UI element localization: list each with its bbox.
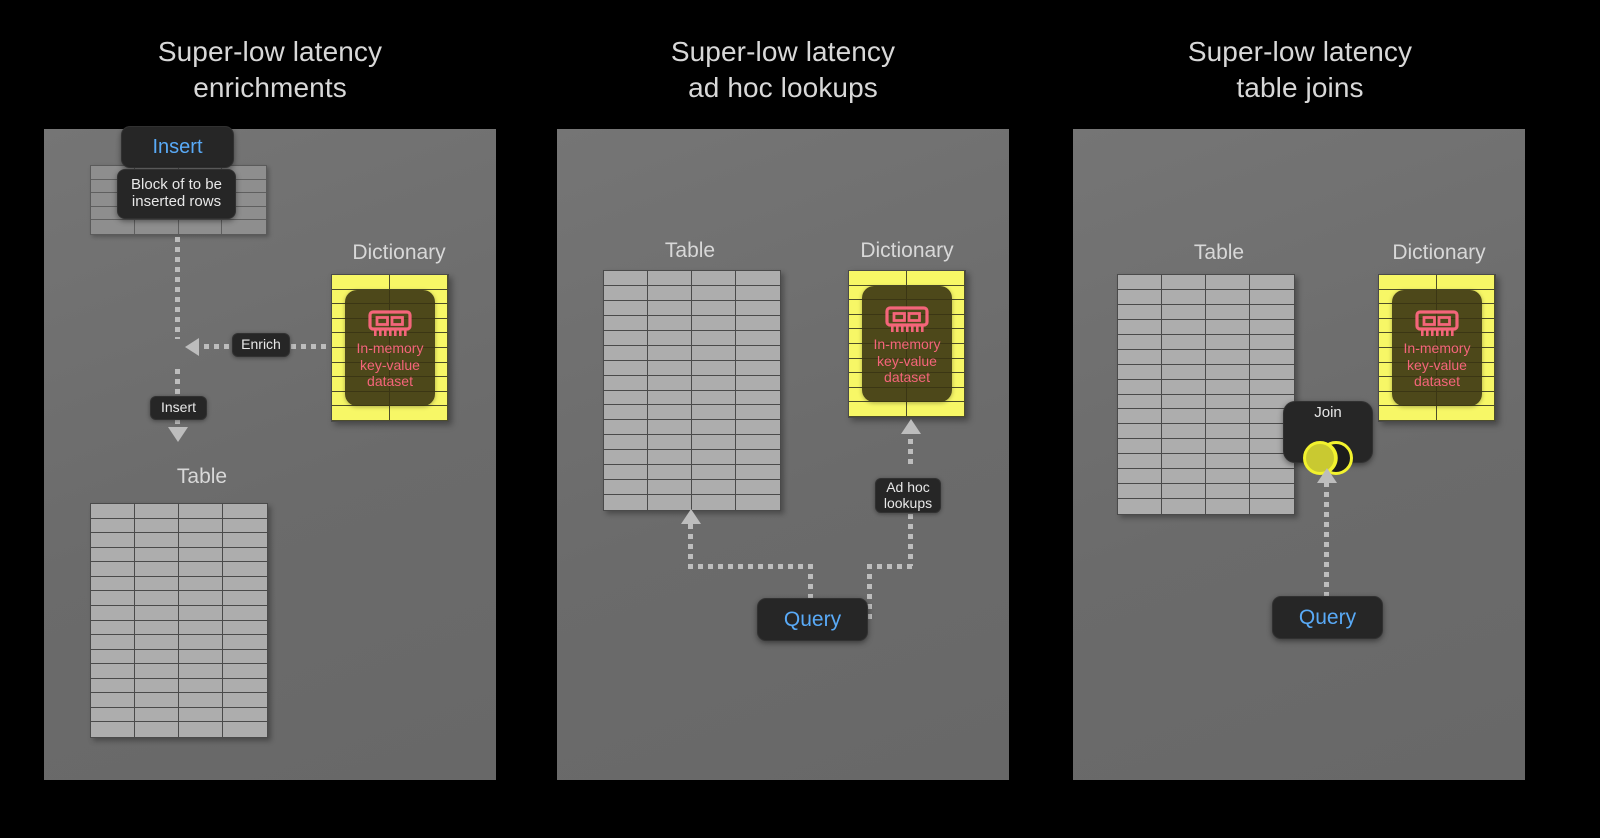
table-caption-1: Table <box>142 465 262 489</box>
grid-cell <box>648 495 692 510</box>
grid-cell <box>179 722 223 737</box>
grid-cell <box>736 391 780 406</box>
grid-cell <box>648 331 692 346</box>
grid-cell <box>1118 305 1162 320</box>
grid-cell <box>1206 469 1250 484</box>
panel-1-title: Super-low latency enrichments <box>60 34 480 106</box>
grid-cell <box>179 504 223 519</box>
lookup-arrowhead <box>901 419 921 434</box>
table-grid-1 <box>90 503 268 738</box>
grid-cell <box>91 635 135 650</box>
grid-cell <box>849 271 907 286</box>
grid-cell <box>604 450 648 465</box>
grid-cell <box>648 361 692 376</box>
grid-cell <box>91 504 135 519</box>
grid-cell <box>179 693 223 708</box>
grid-cell <box>135 519 179 534</box>
grid-cell <box>692 361 736 376</box>
grid-cell <box>1206 365 1250 380</box>
grid-cell <box>135 562 179 577</box>
grid-cell <box>223 577 267 592</box>
grid-cell <box>390 275 448 290</box>
grid-cell <box>223 533 267 548</box>
grid-cell <box>849 402 907 417</box>
grid-cell <box>1250 305 1294 320</box>
grid-cell <box>223 548 267 563</box>
grid-cell <box>222 220 266 234</box>
grid-cell <box>907 402 965 417</box>
grid-cell <box>648 450 692 465</box>
panel-3-title: Super-low latency table joins <box>1090 34 1510 106</box>
grid-cell <box>1162 305 1206 320</box>
grid-cell <box>135 679 179 694</box>
grid-cell <box>648 465 692 480</box>
enrich-chip[interactable]: Enrich <box>232 333 290 357</box>
grid-cell <box>648 271 692 286</box>
query-chip-3[interactable]: Query <box>1272 596 1383 639</box>
grid-cell <box>135 650 179 665</box>
grid-cell <box>1162 409 1206 424</box>
enrich-arrowhead <box>185 338 199 356</box>
grid-cell <box>1206 305 1250 320</box>
grid-cell <box>1118 484 1162 499</box>
grid-cell <box>1118 454 1162 469</box>
grid-cell <box>604 376 648 391</box>
grid-cell <box>179 220 223 234</box>
grid-cell <box>736 480 780 495</box>
grid-cell <box>135 504 179 519</box>
grid-cell <box>692 480 736 495</box>
grid-cell <box>692 331 736 346</box>
panel-2-title: Super-low latency ad hoc lookups <box>573 34 993 106</box>
insert-chip-top[interactable]: Insert <box>121 126 234 168</box>
insert-flow-connector <box>175 237 180 339</box>
grid-cell <box>692 450 736 465</box>
grid-cell <box>135 577 179 592</box>
grid-cell <box>692 286 736 301</box>
grid-cell <box>135 591 179 606</box>
grid-cell <box>1250 365 1294 380</box>
grid-cell <box>1206 335 1250 350</box>
grid-cell <box>179 621 223 636</box>
grid-cell <box>736 495 780 510</box>
grid-cell <box>1162 424 1206 439</box>
grid-cell <box>1206 395 1250 410</box>
grid-cell <box>1118 365 1162 380</box>
ram-module-icon <box>885 306 929 336</box>
grid-cell <box>135 533 179 548</box>
dictionary-caption-3: Dictionary <box>1359 241 1519 265</box>
grid-cell <box>736 271 780 286</box>
grid-cell <box>1437 406 1495 421</box>
grid-cell <box>91 664 135 679</box>
ram-module-icon <box>1415 310 1459 340</box>
table-grid-3 <box>1117 274 1295 515</box>
grid-cell <box>604 480 648 495</box>
grid-cell <box>1118 469 1162 484</box>
grid-cell <box>1379 275 1437 290</box>
grid-cell <box>1250 275 1294 290</box>
query-branch-right-horizontal <box>867 564 912 569</box>
grid-cell <box>1162 350 1206 365</box>
grid-cell <box>1206 380 1250 395</box>
grid-cell <box>91 533 135 548</box>
grid-cell <box>135 220 179 234</box>
grid-cell <box>223 504 267 519</box>
grid-cell <box>692 420 736 435</box>
grid-cell <box>692 405 736 420</box>
join-chip[interactable]: Join <box>1283 401 1373 463</box>
grid-cell <box>135 548 179 563</box>
grid-cell <box>179 562 223 577</box>
grid-cell <box>1250 499 1294 514</box>
grid-cell <box>1118 335 1162 350</box>
grid-cell <box>1162 499 1206 514</box>
grid-cell <box>179 577 223 592</box>
grid-cell <box>692 495 736 510</box>
table-read-connector <box>688 524 693 566</box>
lookup-connector-upper <box>908 429 913 466</box>
query-chip-2[interactable]: Query <box>757 598 868 641</box>
join-query-arrowhead <box>1317 468 1337 483</box>
grid-cell <box>736 361 780 376</box>
grid-cell <box>1162 395 1206 410</box>
grid-cell <box>692 316 736 331</box>
grid-cell <box>91 591 135 606</box>
grid-cell <box>91 679 135 694</box>
grid-cell <box>1206 484 1250 499</box>
grid-cell <box>1162 439 1206 454</box>
grid-cell <box>1162 320 1206 335</box>
grid-cell <box>648 480 692 495</box>
table-caption-3: Table <box>1159 241 1279 265</box>
grid-cell <box>223 562 267 577</box>
grid-cell <box>604 286 648 301</box>
join-query-connector <box>1324 482 1329 597</box>
panel-2: Table Dictionary <box>557 129 1009 780</box>
grid-cell <box>91 519 135 534</box>
grid-cell <box>1162 454 1206 469</box>
grid-cell <box>692 435 736 450</box>
grid-cell <box>223 606 267 621</box>
grid-cell <box>736 331 780 346</box>
grid-cell <box>1437 275 1495 290</box>
grid-cell <box>1162 365 1206 380</box>
grid-cell <box>179 650 223 665</box>
dictionary-caption-1: Dictionary <box>319 241 479 265</box>
grid-cell <box>604 465 648 480</box>
grid-cell <box>91 220 135 234</box>
insert-chip-mid[interactable]: Insert <box>150 396 207 420</box>
grid-cell <box>604 316 648 331</box>
grid-cell <box>692 346 736 361</box>
grid-cell <box>736 420 780 435</box>
grid-cell <box>907 271 965 286</box>
block-of-rows-note[interactable]: Block of to be inserted rows <box>117 169 236 219</box>
panel-1: Insert Block of to be inserted rows Enri… <box>44 129 496 780</box>
grid-cell <box>1250 350 1294 365</box>
grid-cell <box>736 376 780 391</box>
grid-cell <box>1162 290 1206 305</box>
grid-cell <box>736 405 780 420</box>
grid-cell <box>1250 335 1294 350</box>
grid-cell <box>604 435 648 450</box>
grid-cell <box>223 650 267 665</box>
grid-cell <box>1206 424 1250 439</box>
grid-cell <box>223 679 267 694</box>
grid-cell <box>604 391 648 406</box>
grid-cell <box>1118 439 1162 454</box>
in-memory-label-3: In-memory key-value dataset <box>1404 340 1471 389</box>
dictionary-caption-2: Dictionary <box>827 239 987 263</box>
grid-cell <box>1250 484 1294 499</box>
grid-cell <box>223 708 267 723</box>
grid-cell <box>179 519 223 534</box>
grid-cell <box>1250 469 1294 484</box>
grid-cell <box>1162 335 1206 350</box>
grid-cell <box>692 376 736 391</box>
grid-cell <box>604 405 648 420</box>
grid-cell <box>91 693 135 708</box>
grid-cell <box>91 650 135 665</box>
grid-cell <box>648 316 692 331</box>
grid-cell <box>91 722 135 737</box>
table-caption-2: Table <box>630 239 750 263</box>
grid-cell <box>1206 350 1250 365</box>
grid-cell <box>91 562 135 577</box>
grid-cell <box>648 346 692 361</box>
grid-cell <box>179 708 223 723</box>
grid-cell <box>223 664 267 679</box>
query-branch-left-horizontal <box>688 564 812 569</box>
grid-cell <box>1206 275 1250 290</box>
grid-cell <box>135 722 179 737</box>
grid-cell <box>1118 380 1162 395</box>
grid-cell <box>1162 275 1206 290</box>
grid-cell <box>223 519 267 534</box>
grid-cell <box>648 391 692 406</box>
grid-cell <box>223 621 267 636</box>
grid-cell <box>1118 395 1162 410</box>
grid-cell <box>1162 484 1206 499</box>
ram-module-icon <box>368 310 412 340</box>
join-label: Join <box>1314 405 1342 420</box>
grid-cell <box>1250 290 1294 305</box>
grid-cell <box>604 361 648 376</box>
grid-cell <box>332 406 390 421</box>
grid-cell <box>736 465 780 480</box>
grid-cell <box>91 708 135 723</box>
grid-cell <box>179 664 223 679</box>
grid-cell <box>1206 290 1250 305</box>
ad-hoc-lookups-chip[interactable]: Ad hoc lookups <box>875 478 941 513</box>
grid-cell <box>648 376 692 391</box>
grid-cell <box>223 591 267 606</box>
grid-cell <box>604 495 648 510</box>
grid-cell <box>91 621 135 636</box>
table-grid-2 <box>603 270 781 511</box>
table-read-arrowhead <box>681 509 701 524</box>
grid-cell <box>736 301 780 316</box>
grid-cell <box>648 405 692 420</box>
grid-cell <box>604 301 648 316</box>
grid-cell <box>736 286 780 301</box>
grid-cell <box>179 591 223 606</box>
grid-cell <box>736 450 780 465</box>
grid-cell <box>648 420 692 435</box>
grid-cell <box>91 548 135 563</box>
in-memory-label-2: In-memory key-value dataset <box>874 336 941 385</box>
grid-cell <box>135 693 179 708</box>
grid-cell <box>1206 454 1250 469</box>
grid-cell <box>736 316 780 331</box>
grid-cell <box>1118 320 1162 335</box>
grid-cell <box>648 286 692 301</box>
grid-cell <box>1206 499 1250 514</box>
grid-cell <box>91 606 135 621</box>
grid-cell <box>604 420 648 435</box>
grid-cell <box>332 275 390 290</box>
grid-cell <box>1162 380 1206 395</box>
grid-cell <box>135 606 179 621</box>
grid-cell <box>604 346 648 361</box>
grid-cell <box>692 391 736 406</box>
grid-cell <box>179 679 223 694</box>
grid-cell <box>1206 439 1250 454</box>
grid-cell <box>135 664 179 679</box>
grid-cell <box>179 635 223 650</box>
grid-cell <box>91 577 135 592</box>
grid-cell <box>179 548 223 563</box>
in-memory-badge-2: In-memory key-value dataset <box>862 286 952 402</box>
grid-cell <box>1250 380 1294 395</box>
grid-cell <box>135 635 179 650</box>
panel-3: Table Dictionary <box>1073 129 1525 780</box>
grid-cell <box>1118 409 1162 424</box>
grid-cell <box>692 465 736 480</box>
grid-cell <box>648 301 692 316</box>
insert-arrowhead <box>168 427 188 442</box>
grid-cell <box>604 271 648 286</box>
grid-cell <box>1118 424 1162 439</box>
grid-cell <box>223 722 267 737</box>
grid-cell <box>390 406 448 421</box>
grid-cell <box>1162 469 1206 484</box>
grid-cell <box>648 435 692 450</box>
grid-cell <box>135 621 179 636</box>
diagram-canvas: Super-low latency enrichments Insert Blo… <box>0 0 1600 838</box>
grid-cell <box>135 708 179 723</box>
in-memory-label-1: In-memory key-value dataset <box>357 340 424 389</box>
grid-cell <box>1250 320 1294 335</box>
in-memory-badge-1: In-memory key-value dataset <box>345 290 435 406</box>
grid-cell <box>223 635 267 650</box>
grid-cell <box>736 435 780 450</box>
grid-cell <box>1379 406 1437 421</box>
grid-cell <box>604 331 648 346</box>
grid-cell <box>692 271 736 286</box>
in-memory-badge-3: In-memory key-value dataset <box>1392 290 1482 406</box>
grid-cell <box>179 606 223 621</box>
grid-cell <box>179 533 223 548</box>
grid-cell <box>1118 275 1162 290</box>
grid-cell <box>1206 409 1250 424</box>
grid-cell <box>223 693 267 708</box>
grid-cell <box>692 301 736 316</box>
grid-cell <box>1118 290 1162 305</box>
grid-cell <box>1118 499 1162 514</box>
grid-cell <box>1206 320 1250 335</box>
grid-cell <box>1118 350 1162 365</box>
grid-cell <box>736 346 780 361</box>
